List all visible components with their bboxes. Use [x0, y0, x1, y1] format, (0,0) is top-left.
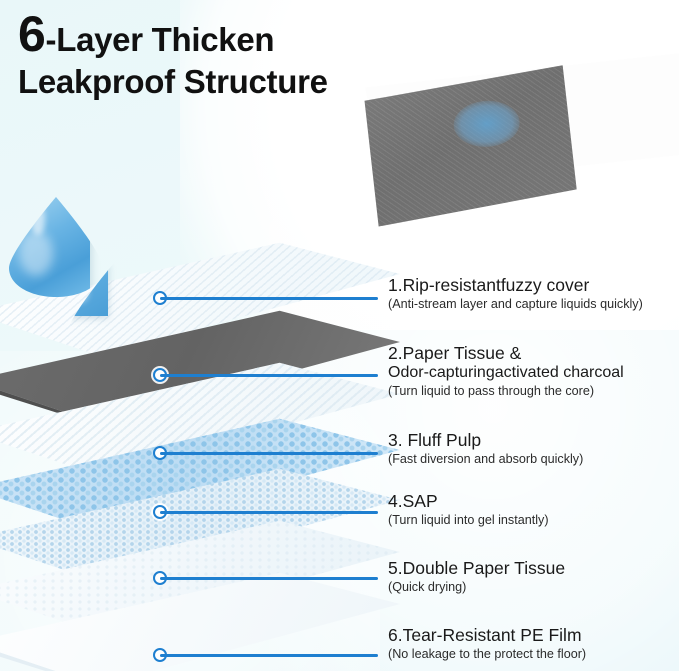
- leader-stroke-4: [160, 511, 378, 514]
- title-number-6: 6: [18, 6, 46, 62]
- layer-label-5-note: (Quick drying): [388, 580, 565, 595]
- layer-label-3: 3. Fluff Pulp (Fast diversion and absorb…: [388, 430, 583, 467]
- layer-label-4: 4.SAP (Turn liquid into gel instantly): [388, 491, 549, 528]
- water-droplet-small: [64, 262, 108, 316]
- title-line-1-rest: -Layer Thicken: [46, 21, 275, 58]
- layer-label-4-note: (Turn liquid into gel instantly): [388, 513, 549, 528]
- leader-line-2: [153, 368, 379, 382]
- layer-label-2-title: 2.Paper Tissue &: [388, 343, 624, 364]
- infographic-canvas: 6-Layer Thicken Leakproof Structure 1.Ri…: [0, 0, 679, 671]
- pad-droplet-large: [448, 84, 476, 118]
- layer-label-6: 6.Tear-Resistant PE Film (No leakage to …: [388, 625, 586, 662]
- leader-stroke-1: [160, 297, 378, 300]
- leader-line-4: [153, 505, 379, 519]
- page-title: 6-Layer Thicken Leakproof Structure: [18, 12, 328, 102]
- layer-label-5-title: 5.Double Paper Tissue: [388, 558, 565, 579]
- layer-label-1-title: 1.Rip-resistantfuzzy cover: [388, 275, 643, 296]
- leader-stroke-3: [160, 452, 378, 455]
- layer-label-6-note: (No leakage to the protect the floor): [388, 647, 586, 662]
- layer-label-6-title: 6.Tear-Resistant PE Film: [388, 625, 586, 646]
- leader-line-1: [153, 291, 379, 305]
- water-droplet-cluster: [4, 196, 124, 324]
- leader-line-6: [153, 648, 379, 662]
- layer-label-4-title: 4.SAP: [388, 491, 549, 512]
- layer-label-2-note: (Turn liquid to pass through the core): [388, 384, 624, 399]
- leader-line-3: [153, 446, 379, 460]
- title-line-2: Leakproof Structure: [18, 63, 328, 101]
- title-line-1: 6-Layer Thicken: [18, 12, 328, 59]
- layer-label-2-title-line2: Odor-capturingactivated charcoal: [388, 364, 624, 383]
- leader-stroke-6: [160, 654, 378, 657]
- layer-label-2: 2.Paper Tissue & Odor-capturingactivated…: [388, 343, 624, 399]
- layer-label-1: 1.Rip-resistantfuzzy cover (Anti-stream …: [388, 275, 643, 312]
- leader-stroke-5: [160, 577, 378, 580]
- pad-droplet-small-right: [465, 113, 486, 139]
- layer-label-3-note: (Fast diversion and absorb quickly): [388, 452, 583, 467]
- leader-line-5: [153, 571, 379, 585]
- leader-stroke-2: [160, 374, 378, 377]
- layer-label-3-title: 3. Fluff Pulp: [388, 430, 583, 451]
- pad-droplet-small-left: [438, 114, 458, 139]
- layer-label-5: 5.Double Paper Tissue (Quick drying): [388, 558, 565, 595]
- layer-label-1-note: (Anti-stream layer and capture liquids q…: [388, 297, 643, 312]
- product-photo-pad: [351, 55, 586, 236]
